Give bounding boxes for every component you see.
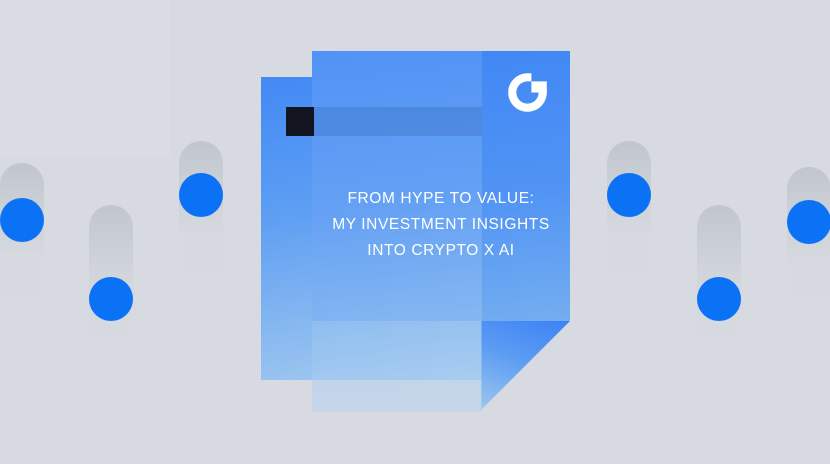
- brand-logo-icon: [505, 70, 550, 115]
- folded-corner: [481, 321, 570, 410]
- cover-art-canvas: FROM HYPE TO VALUE: MY INVESTMENT INSIGH…: [0, 0, 830, 464]
- title-line-3: INTO CRYPTO X AI: [312, 238, 570, 264]
- brand-logo: [505, 70, 550, 115]
- dark-block-icon: [286, 107, 314, 136]
- header-placeholder-bar: [286, 107, 482, 136]
- title-line-2: MY INVESTMENT INSIGHTS: [312, 212, 570, 238]
- document-card-stack: FROM HYPE TO VALUE: MY INVESTMENT INSIGH…: [0, 0, 830, 464]
- title-line-1: FROM HYPE TO VALUE:: [312, 186, 570, 212]
- page-title: FROM HYPE TO VALUE: MY INVESTMENT INSIGH…: [312, 186, 570, 264]
- content-panel: [0, 0, 170, 158]
